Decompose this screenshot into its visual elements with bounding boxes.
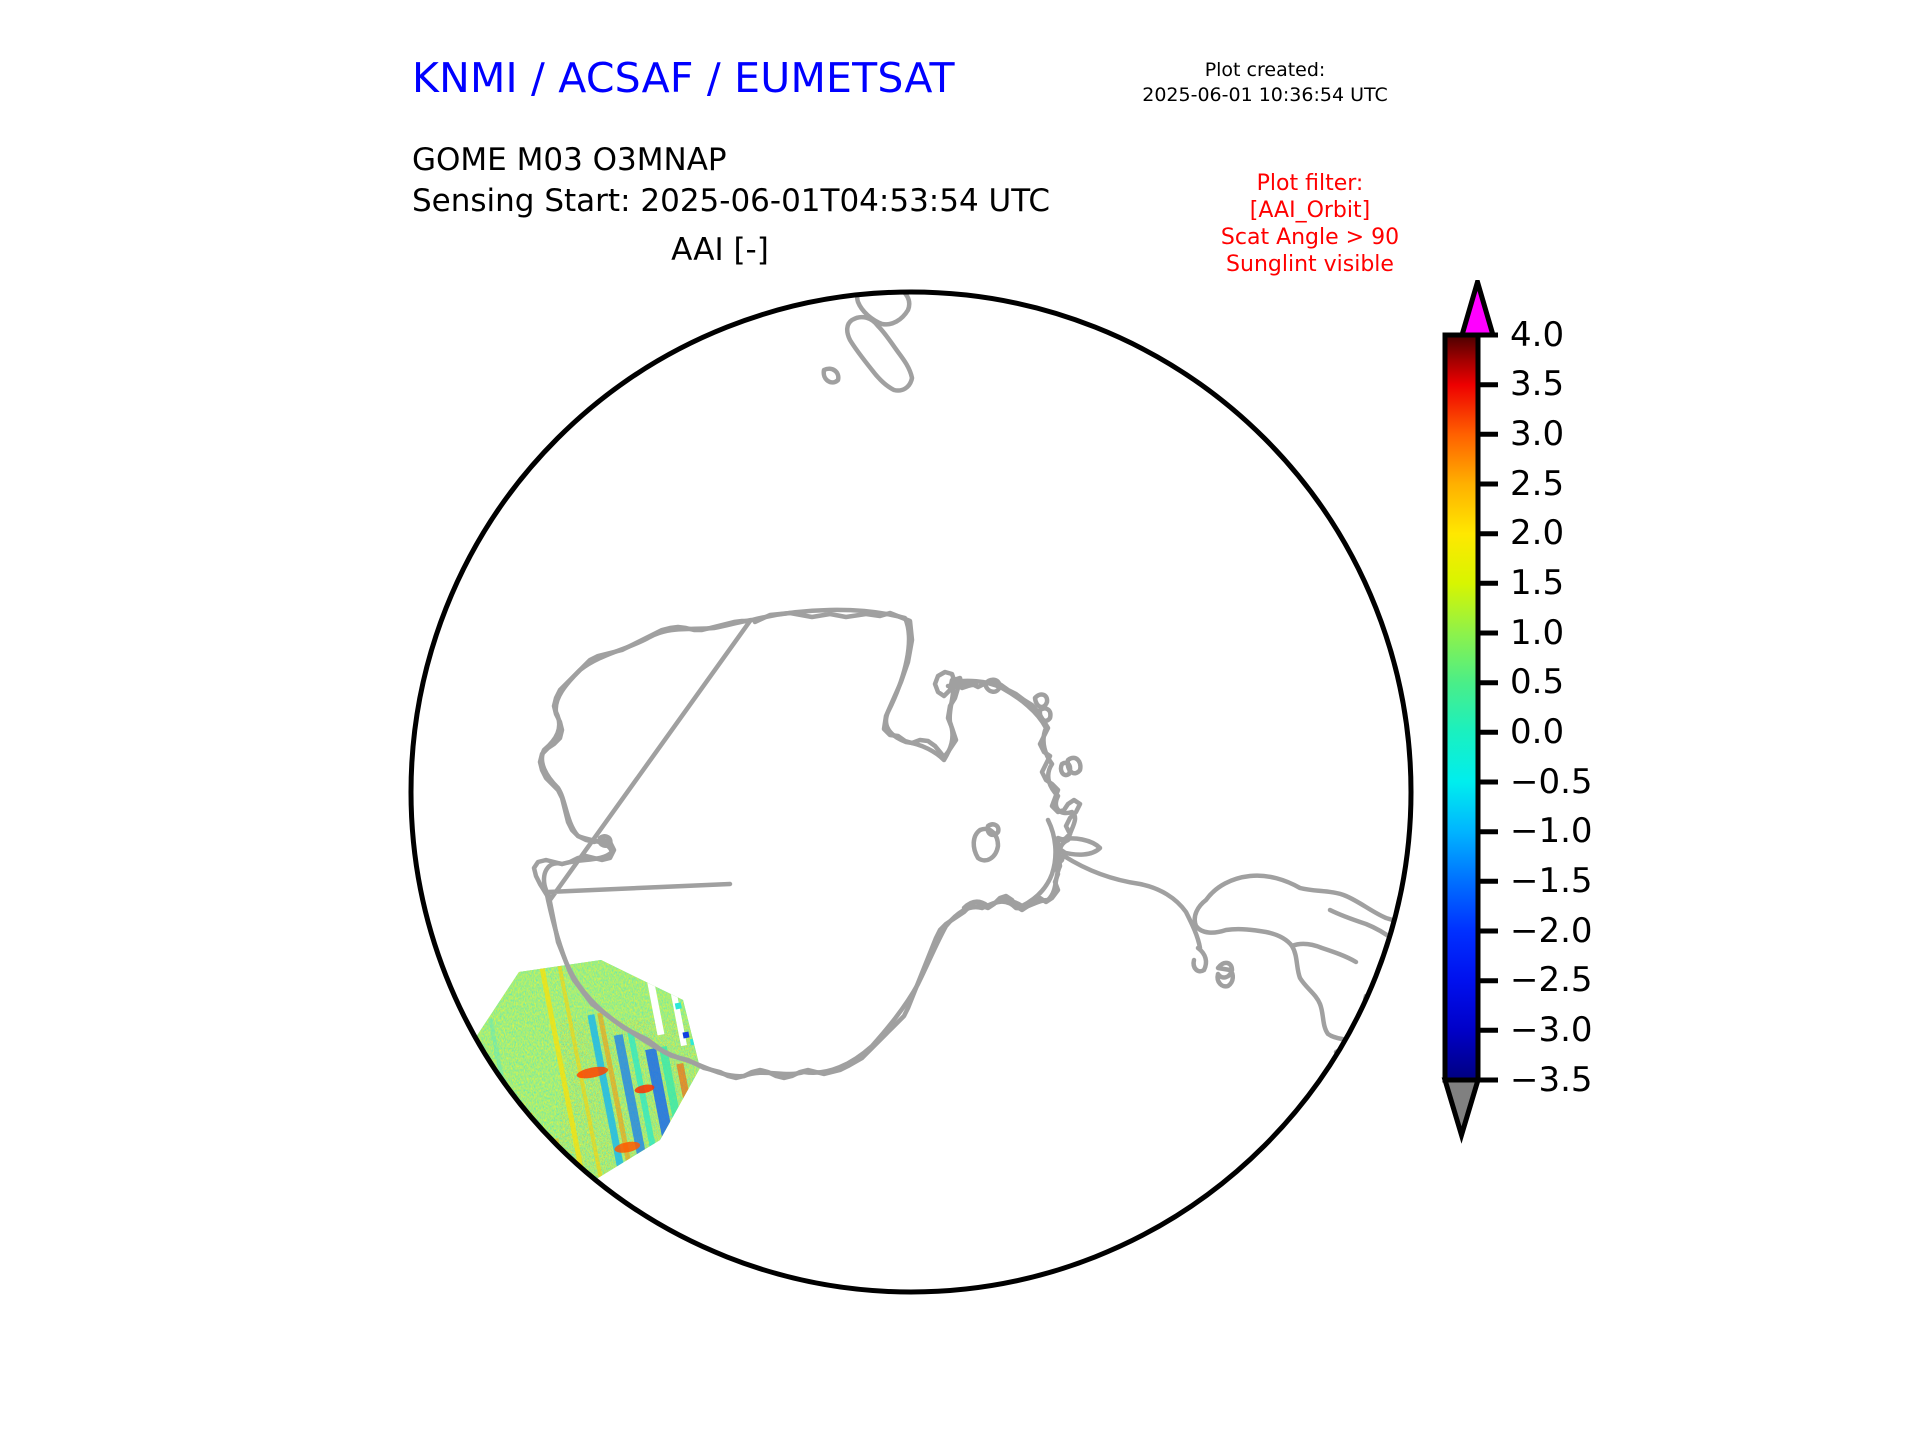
colorbar-tick-label-1-0: 1.0 [1510,616,1564,650]
colorbar: 4.0 3.5 3.0 2.5 2.0 1.5 1.0 0.5 0.0 −0.5… [1430,280,1770,1340]
south-georgia [1365,993,1415,1033]
colorbar-tick-label-4-0: 4.0 [1510,318,1564,352]
colorbar-tick-label-2-5: 2.5 [1510,467,1564,501]
sa-south-tail [1352,1078,1370,1110]
colorbar-tick-label-neg-0-5: −0.5 [1510,765,1593,799]
colorbar-tick-label-2-0: 2.0 [1510,516,1564,550]
colorbar-ticks [1478,335,1498,1080]
colorbar-tick-label-3-0: 3.0 [1510,417,1564,451]
colorbar-tick-label-neg-2-0: −2.0 [1510,914,1593,948]
colorbar-gradient [1445,335,1478,1080]
colorbar-tick-label-neg-1-5: −1.5 [1510,864,1593,898]
australia-south-fragment [510,288,563,314]
tierra-del-fuego [1336,1048,1374,1090]
colorbar-over-arrow [1462,282,1493,335]
colorbar-svg [1430,280,1770,1340]
colorbar-tick-label-3-5: 3.5 [1510,367,1564,401]
colorbar-tick-label-neg-2-5: −2.5 [1510,963,1593,997]
colorbar-tick-label-1-5: 1.5 [1510,566,1564,600]
colorbar-tick-label-neg-3-5: −3.5 [1510,1063,1593,1097]
colorbar-tick-label-0-5: 0.5 [1510,665,1564,699]
colorbar-under-arrow [1445,1080,1478,1135]
plot-page: KNMI / ACSAF / EUMETSAT Plot created: 20… [0,0,1920,1440]
colorbar-tick-label-neg-3-0: −3.0 [1510,1013,1593,1047]
colorbar-tick-label-0-0: 0.0 [1510,715,1564,749]
colorbar-tick-label-neg-1-0: −1.0 [1510,814,1593,848]
tasmania [524,319,556,350]
